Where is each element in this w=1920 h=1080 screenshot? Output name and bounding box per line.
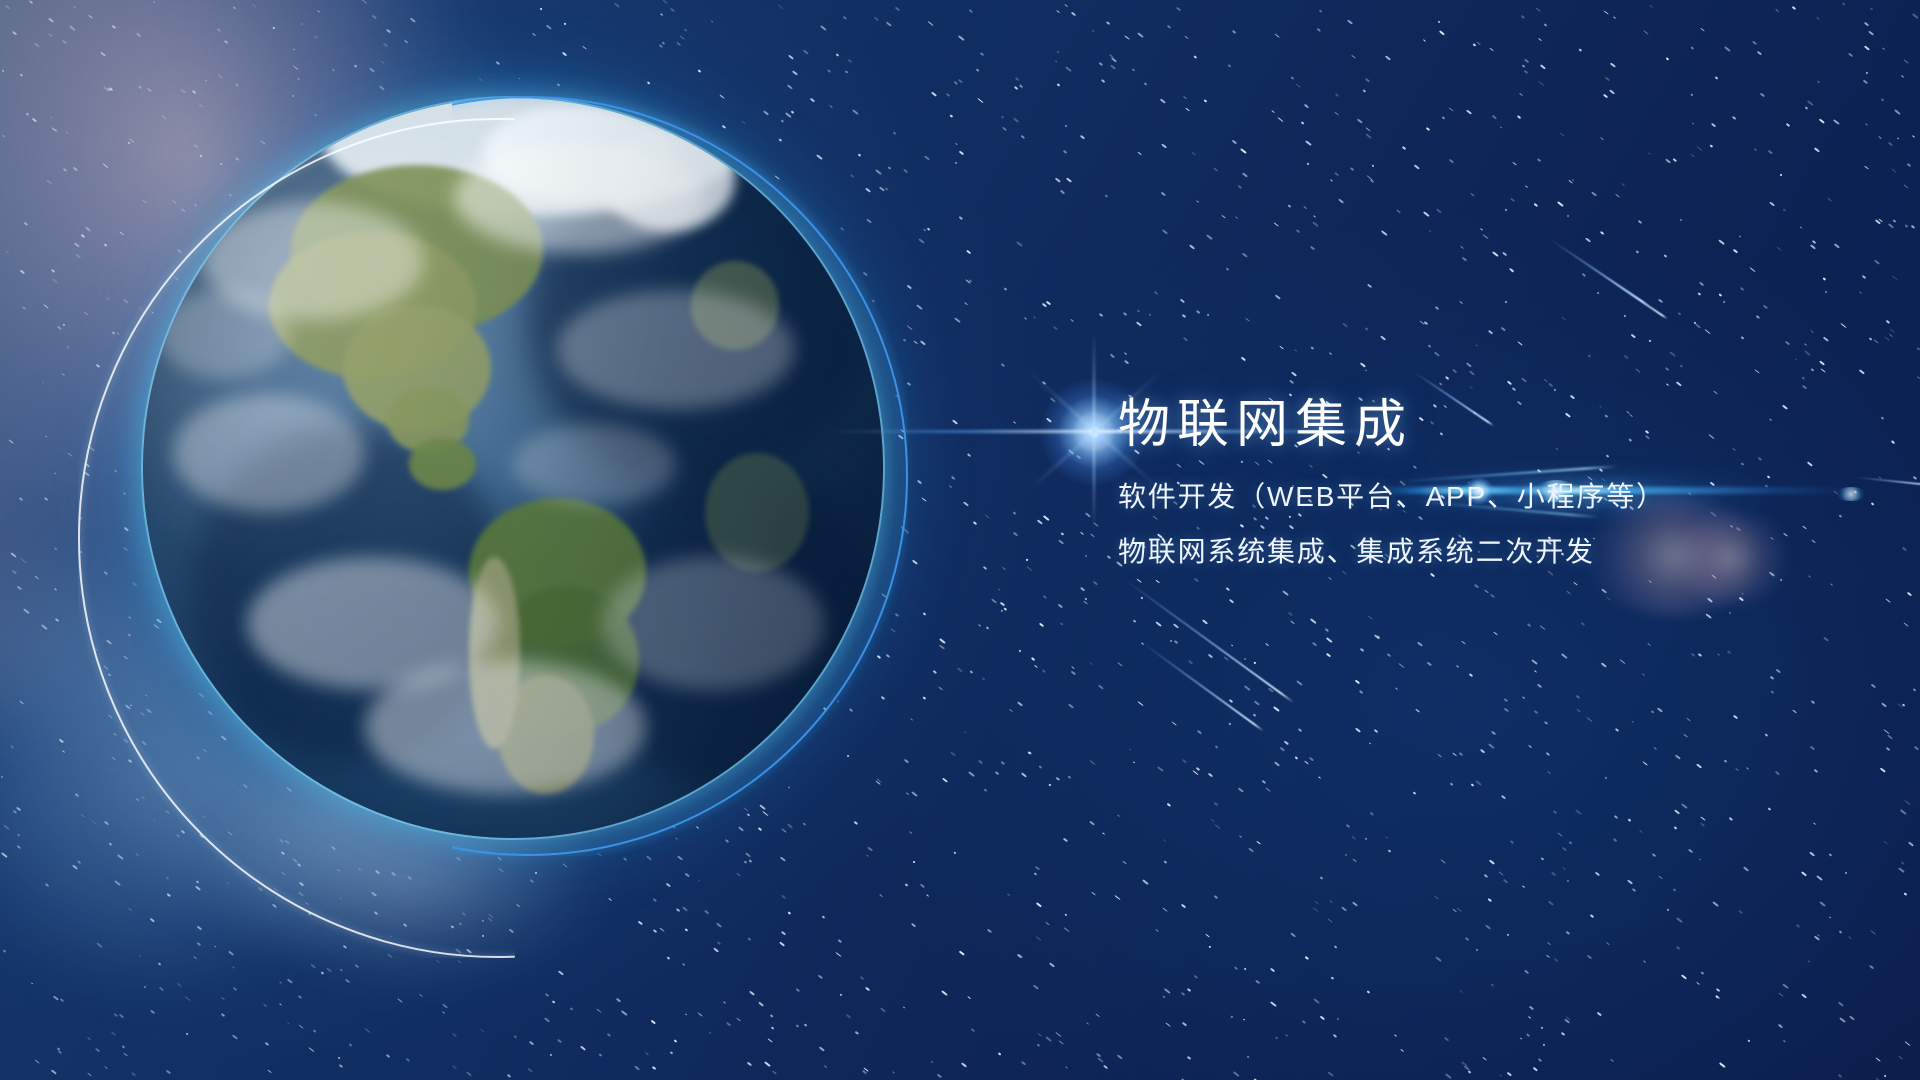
meteor-trail xyxy=(1123,578,1294,703)
banner-subtitle-2: 物联网系统集成、集成系统二次开发 xyxy=(1118,538,1666,566)
beam-spark xyxy=(1836,487,1866,501)
page-title: 物联网集成 xyxy=(1118,398,1666,453)
lens-flare-streak-diagonal xyxy=(1027,370,1162,492)
hero-banner: 物联网集成 软件开发（WEB平台、APP、小程序等） 物联网系统集成、集成系统二… xyxy=(0,0,1920,1080)
beam-spark xyxy=(1464,478,1494,504)
meteor-trail xyxy=(1414,371,1495,426)
cyan-light-beam-wing xyxy=(1410,500,1599,519)
banner-subtitle-1: 软件开发（WEB平台、APP、小程序等） xyxy=(1118,483,1666,511)
warm-lens-flare xyxy=(1588,496,1758,616)
cyan-light-beam-glow xyxy=(1360,455,1880,531)
earth-sphere xyxy=(143,98,883,838)
cyan-light-beam-wing xyxy=(1398,465,1618,482)
earth-globe xyxy=(143,98,883,838)
cyan-light-beam xyxy=(1380,487,1850,494)
lens-flare-star xyxy=(1040,378,1148,486)
lens-flare-streak-diagonal xyxy=(1027,370,1162,492)
lens-flare-core xyxy=(1076,414,1112,450)
meteor-trail xyxy=(1602,274,1668,319)
lens-flare-streak-vertical xyxy=(1093,330,1095,530)
meteor-trail xyxy=(1550,239,1651,308)
meteor-trail xyxy=(1142,642,1265,732)
warm-lens-flare xyxy=(1676,510,1786,606)
beam-spark xyxy=(1534,480,1578,502)
meteor-trail xyxy=(1856,476,1920,485)
banner-copy: 物联网集成 软件开发（WEB平台、APP、小程序等） 物联网系统集成、集成系统二… xyxy=(1118,398,1666,566)
